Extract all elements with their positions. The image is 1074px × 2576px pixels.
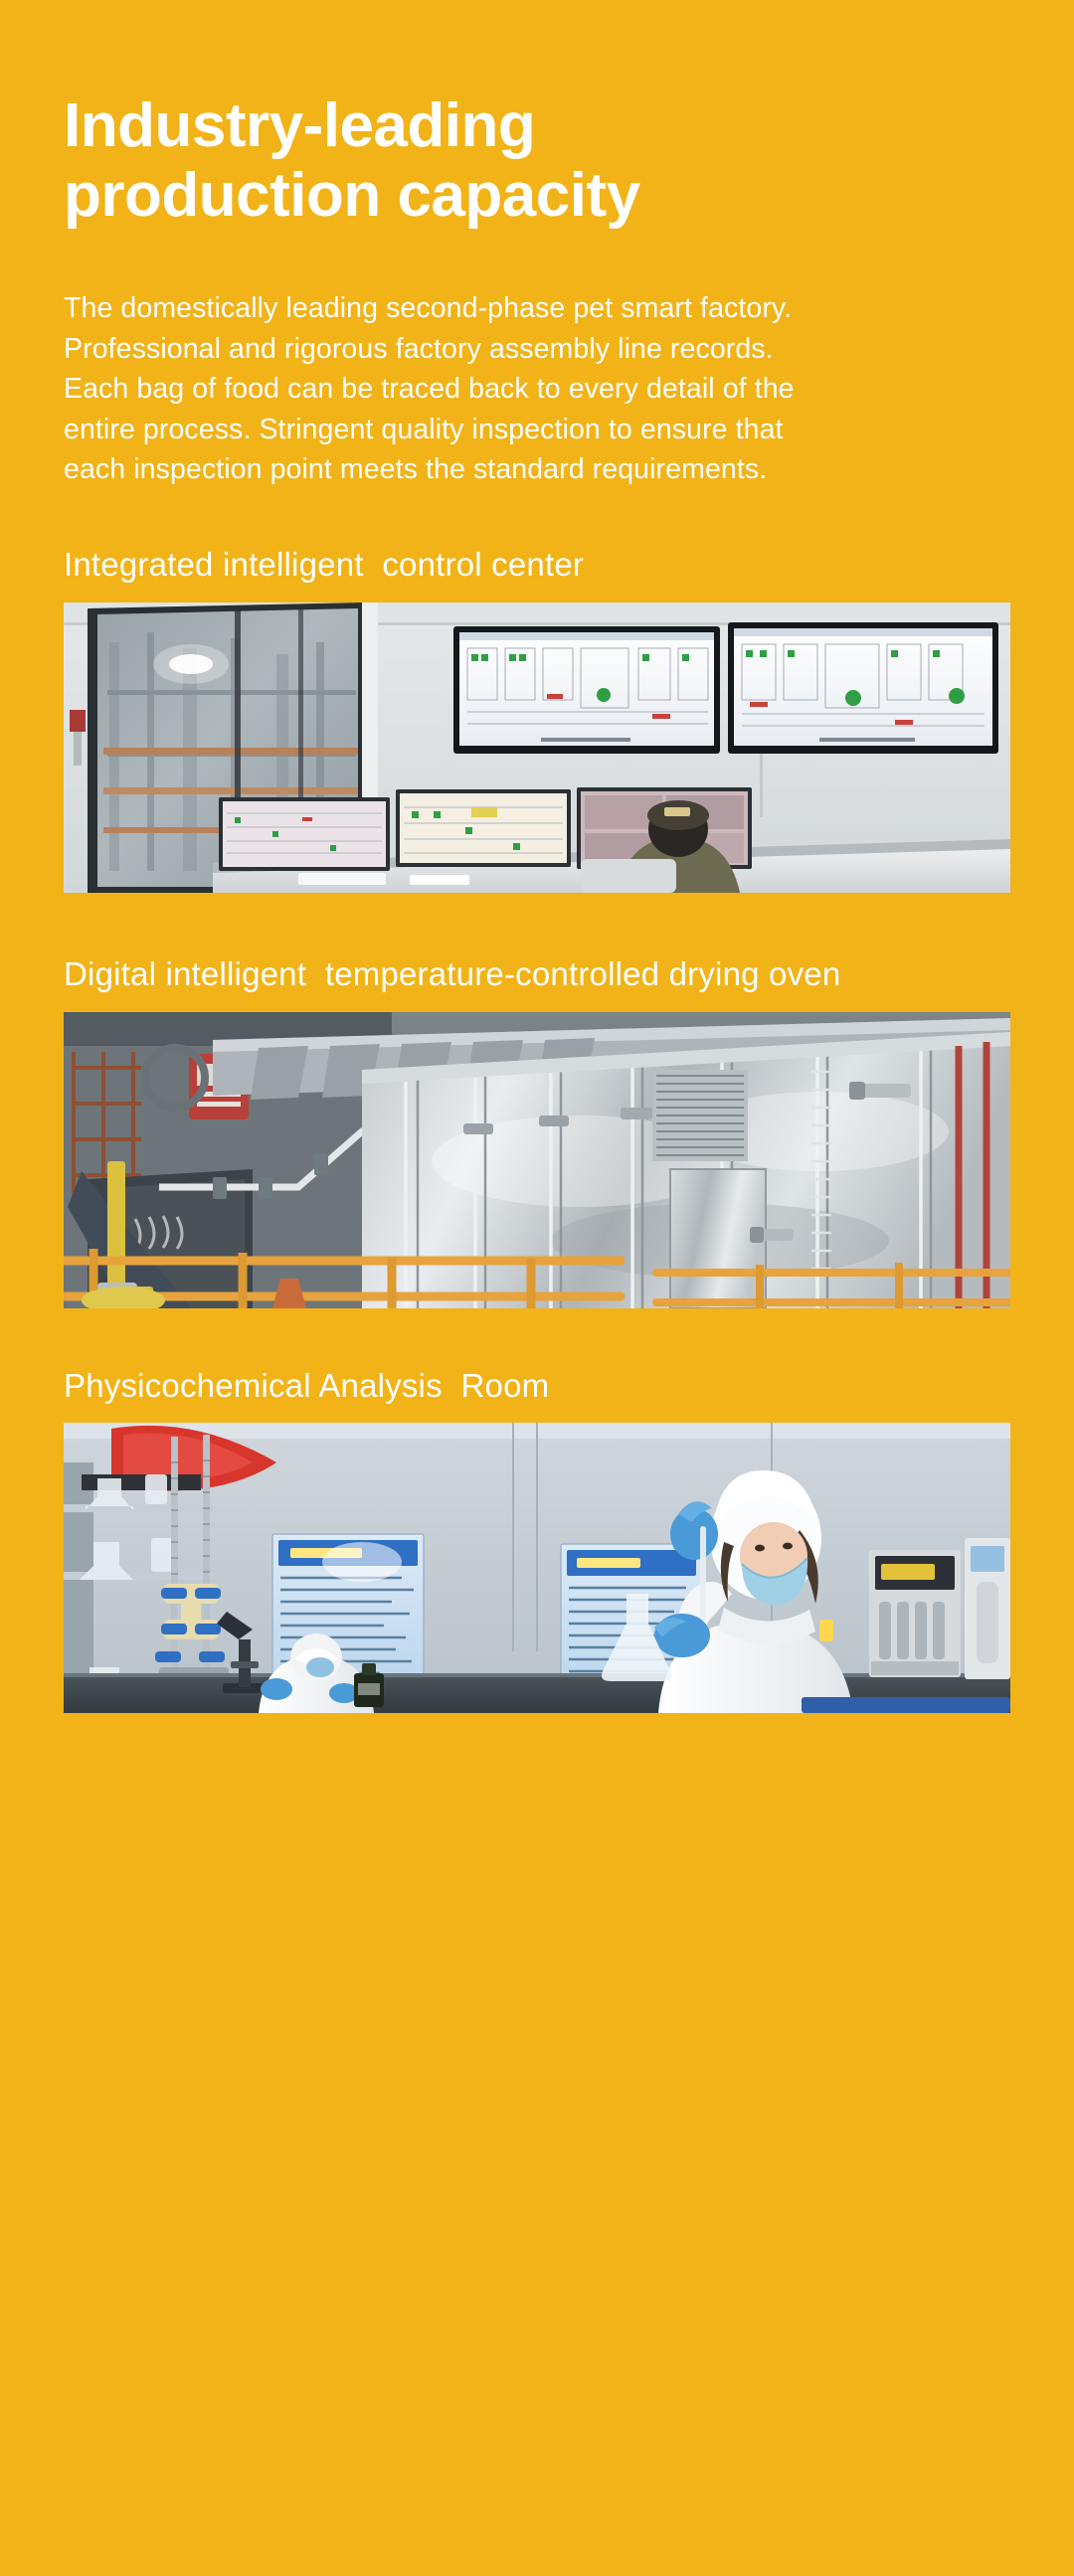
analysis-room-illustration — [64, 1423, 1010, 1713]
section-control-center: Integrated intelligent control center — [64, 545, 1010, 893]
section-analysis-room: Physicochemical Analysis Room — [64, 1366, 1010, 1714]
analysis-room-photo — [64, 1423, 1010, 1713]
section-title-drying-oven: Digital intelligent temperature-controll… — [64, 954, 1010, 994]
intro-paragraph: The domestically leading second-phase pe… — [64, 288, 1010, 489]
drying-oven-photo — [64, 1012, 1010, 1308]
control-center-illustration — [64, 602, 1010, 893]
section-title-control-center: Integrated intelligent control center — [64, 545, 1010, 585]
marketing-page: Industry-leading production capacity The… — [0, 91, 1074, 2576]
section-drying-oven: Digital intelligent temperature-controll… — [64, 954, 1010, 1308]
control-center-photo — [64, 602, 1010, 893]
section-title-analysis-room: Physicochemical Analysis Room — [64, 1366, 1010, 1406]
page-title: Industry-leading production capacity — [64, 91, 1010, 231]
drying-oven-illustration — [64, 1012, 1010, 1308]
